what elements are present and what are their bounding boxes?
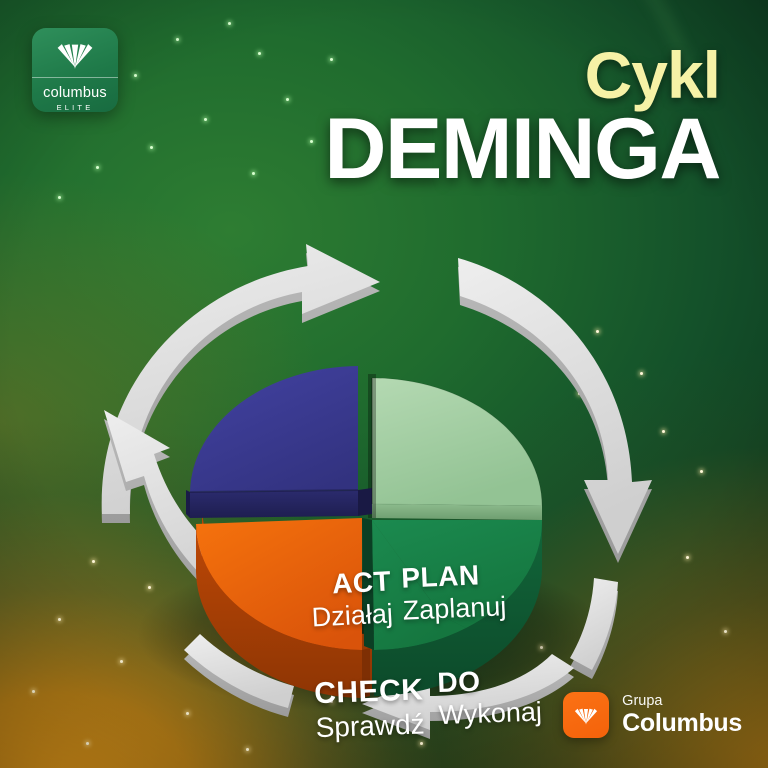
- grupa-columbus-logo[interactable]: Grupa Columbus: [563, 692, 742, 738]
- grupa-line-2: Columbus: [622, 710, 742, 736]
- act-front-wall: [190, 490, 358, 518]
- label-act: ACT Działaj: [250, 565, 393, 636]
- elite-wordmark: columbus: [43, 85, 107, 101]
- columbus-crown-icon: [574, 704, 598, 726]
- label-plan: PLAN Zaplanuj: [401, 555, 574, 626]
- act-right-wall: [358, 488, 372, 516]
- columbus-crown-icon: [55, 39, 95, 69]
- title-line-2: DEMINGA: [324, 109, 720, 190]
- act-left-wall: [186, 490, 190, 518]
- pdca-cycle-diagram: ACT Działaj PLAN Zaplanuj CHECK Sprawdź …: [62, 214, 682, 714]
- grupa-wordmark: Grupa Columbus: [622, 694, 742, 736]
- page-title: Cykl DEMINGA: [324, 44, 720, 190]
- elite-subword: ELITE: [57, 103, 94, 112]
- quadrant-act[interactable]: [190, 366, 358, 492]
- grupa-logo-badge: [563, 692, 609, 738]
- label-check: CHECK Sprawdź: [273, 673, 425, 745]
- label-check-title: CHECK: [273, 673, 424, 712]
- grupa-line-1: Grupa: [622, 694, 742, 709]
- logo-divider: [32, 77, 118, 78]
- columbus-elite-logo[interactable]: columbus ELITE: [32, 28, 118, 112]
- quadrant-plan[interactable]: [372, 378, 542, 506]
- title-line-1: Cykl: [324, 44, 720, 107]
- poster-canvas: columbus ELITE Cykl DEMINGA: [0, 0, 768, 768]
- plan-riser: [372, 504, 542, 520]
- label-check-subtitle: Sprawdź: [274, 708, 425, 745]
- pdca-svg: [62, 214, 682, 714]
